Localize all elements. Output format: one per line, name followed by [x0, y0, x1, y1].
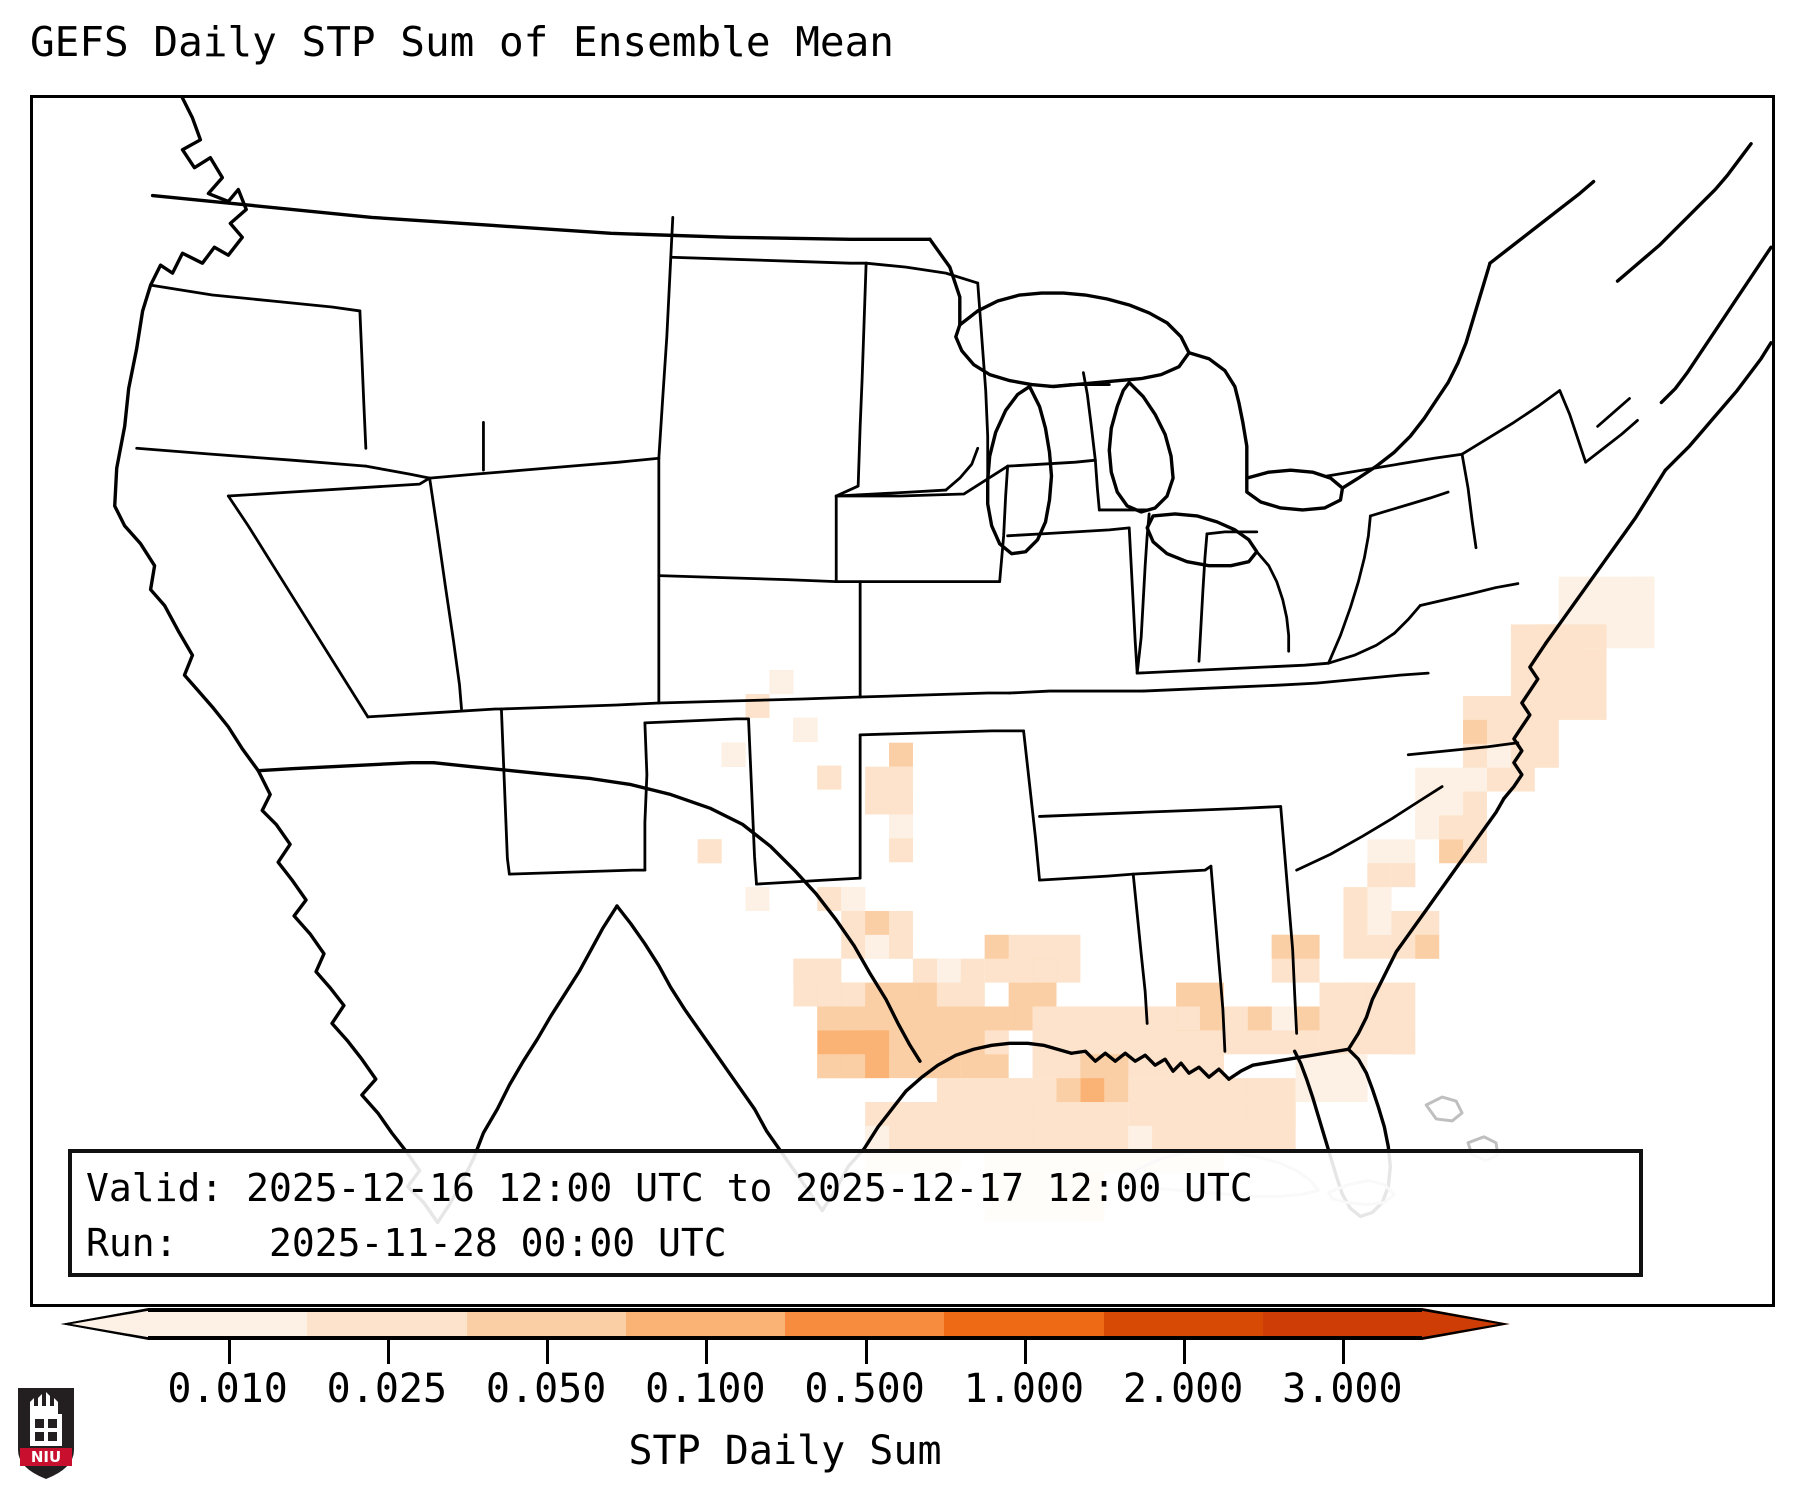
- map-geography-layer: [33, 98, 1772, 1304]
- colorbar[interactable]: [60, 1308, 1510, 1340]
- info-box: Valid: 2025-12-16 12:00 UTC to 2025-12-1…: [68, 1149, 1643, 1277]
- valid-time-line: Valid: 2025-12-16 12:00 UTC to 2025-12-1…: [86, 1161, 1625, 1216]
- colorbar-tick-4: [865, 1340, 868, 1364]
- colorbar-tick-7: [1342, 1340, 1345, 1364]
- colorbar-band-5: [944, 1312, 1103, 1336]
- colorbar-tick-1: [387, 1340, 390, 1364]
- colorbar-tick-label-0: 0.010: [167, 1366, 287, 1412]
- colorbar-tick-6: [1183, 1340, 1186, 1364]
- colorbar-band-2: [467, 1312, 626, 1336]
- colorbar-band-4: [785, 1312, 944, 1336]
- colorbar-bands: [148, 1308, 1422, 1340]
- colorbar-band-0: [148, 1312, 307, 1336]
- coastline-paths: [115, 98, 1771, 1222]
- colorbar-tick-2: [546, 1340, 549, 1364]
- map-plot-area[interactable]: Valid: 2025-12-16 12:00 UTC to 2025-12-1…: [30, 95, 1775, 1307]
- colorbar-tick-3: [705, 1340, 708, 1364]
- colorbar-band-1: [307, 1312, 466, 1336]
- colorbar-tick-label-2: 0.050: [486, 1366, 606, 1412]
- colorbar-tick-label-1: 0.025: [327, 1366, 447, 1412]
- run-time-line: Run: 2025-11-28 00:00 UTC: [86, 1216, 1625, 1271]
- niu-logo-text: NIU: [31, 1448, 61, 1466]
- colorbar-band-3: [626, 1312, 785, 1336]
- page-title: GEFS Daily STP Sum of Ensemble Mean: [30, 18, 894, 66]
- state-boundary-paths: [137, 217, 1638, 1051]
- colorbar-tick-label-4: 0.500: [804, 1366, 924, 1412]
- colorbar-ticks: [60, 1340, 1510, 1366]
- colorbar-axis-label: STP Daily Sum: [0, 1428, 1570, 1474]
- colorbar-band-7: [1263, 1312, 1422, 1336]
- colorbar-tick-5: [1024, 1340, 1027, 1364]
- colorbar-tick-label-3: 0.100: [645, 1366, 765, 1412]
- colorbar-tick-0: [228, 1340, 231, 1364]
- niu-logo: NIU: [14, 1384, 78, 1482]
- colorbar-band-6: [1104, 1312, 1263, 1336]
- colorbar-tick-label-7: 3.000: [1282, 1366, 1402, 1412]
- colorbar-tick-label-5: 1.000: [964, 1366, 1084, 1412]
- colorbar-tick-label-6: 2.000: [1123, 1366, 1243, 1412]
- colorbar-tick-labels: 0.0100.0250.0500.1000.5001.0002.0003.000: [0, 1366, 1803, 1416]
